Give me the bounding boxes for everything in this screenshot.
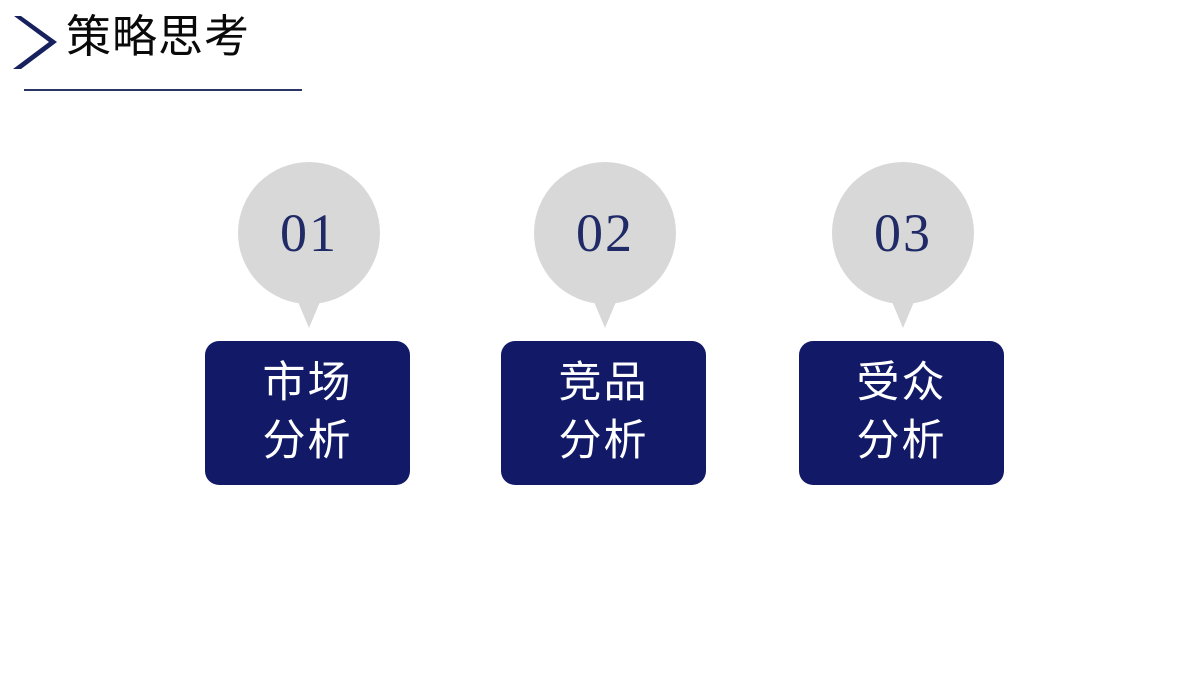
badge-number: 03 (832, 162, 974, 304)
steps-row: 01 市场 分析 02 竞品 分析 (0, 150, 1200, 510)
step-item[interactable]: 01 市场 分析 (158, 150, 458, 496)
step-card-line-1: 竞品 (559, 355, 649, 413)
step-card-line-2: 分析 (559, 413, 649, 471)
slide-header: 策略思考 (0, 0, 1200, 110)
chevron-right-icon (8, 14, 64, 72)
page-title: 策略思考 (66, 8, 250, 66)
step-card-line-2: 分析 (857, 413, 947, 471)
step-card[interactable]: 市场 分析 (205, 341, 410, 485)
title-underline (24, 89, 302, 91)
step-card[interactable]: 竞品 分析 (501, 341, 706, 485)
step-item[interactable]: 02 竞品 分析 (454, 150, 754, 496)
slide-canvas: 策略思考 01 市场 分析 02 (0, 0, 1200, 675)
step-badge: 01 (238, 162, 380, 338)
badge-bubble-shape: 03 (832, 162, 974, 304)
step-badge: 03 (832, 162, 974, 338)
step-card-line-2: 分析 (263, 413, 353, 471)
step-item[interactable]: 03 受众 分析 (752, 150, 1052, 496)
badge-number: 01 (238, 162, 380, 304)
badge-number: 02 (534, 162, 676, 304)
step-card-line-1: 受众 (857, 355, 947, 413)
step-badge: 02 (534, 162, 676, 338)
step-card-line-1: 市场 (263, 355, 353, 413)
badge-bubble-shape: 01 (238, 162, 380, 304)
badge-bubble-shape: 02 (534, 162, 676, 304)
step-card[interactable]: 受众 分析 (799, 341, 1004, 485)
